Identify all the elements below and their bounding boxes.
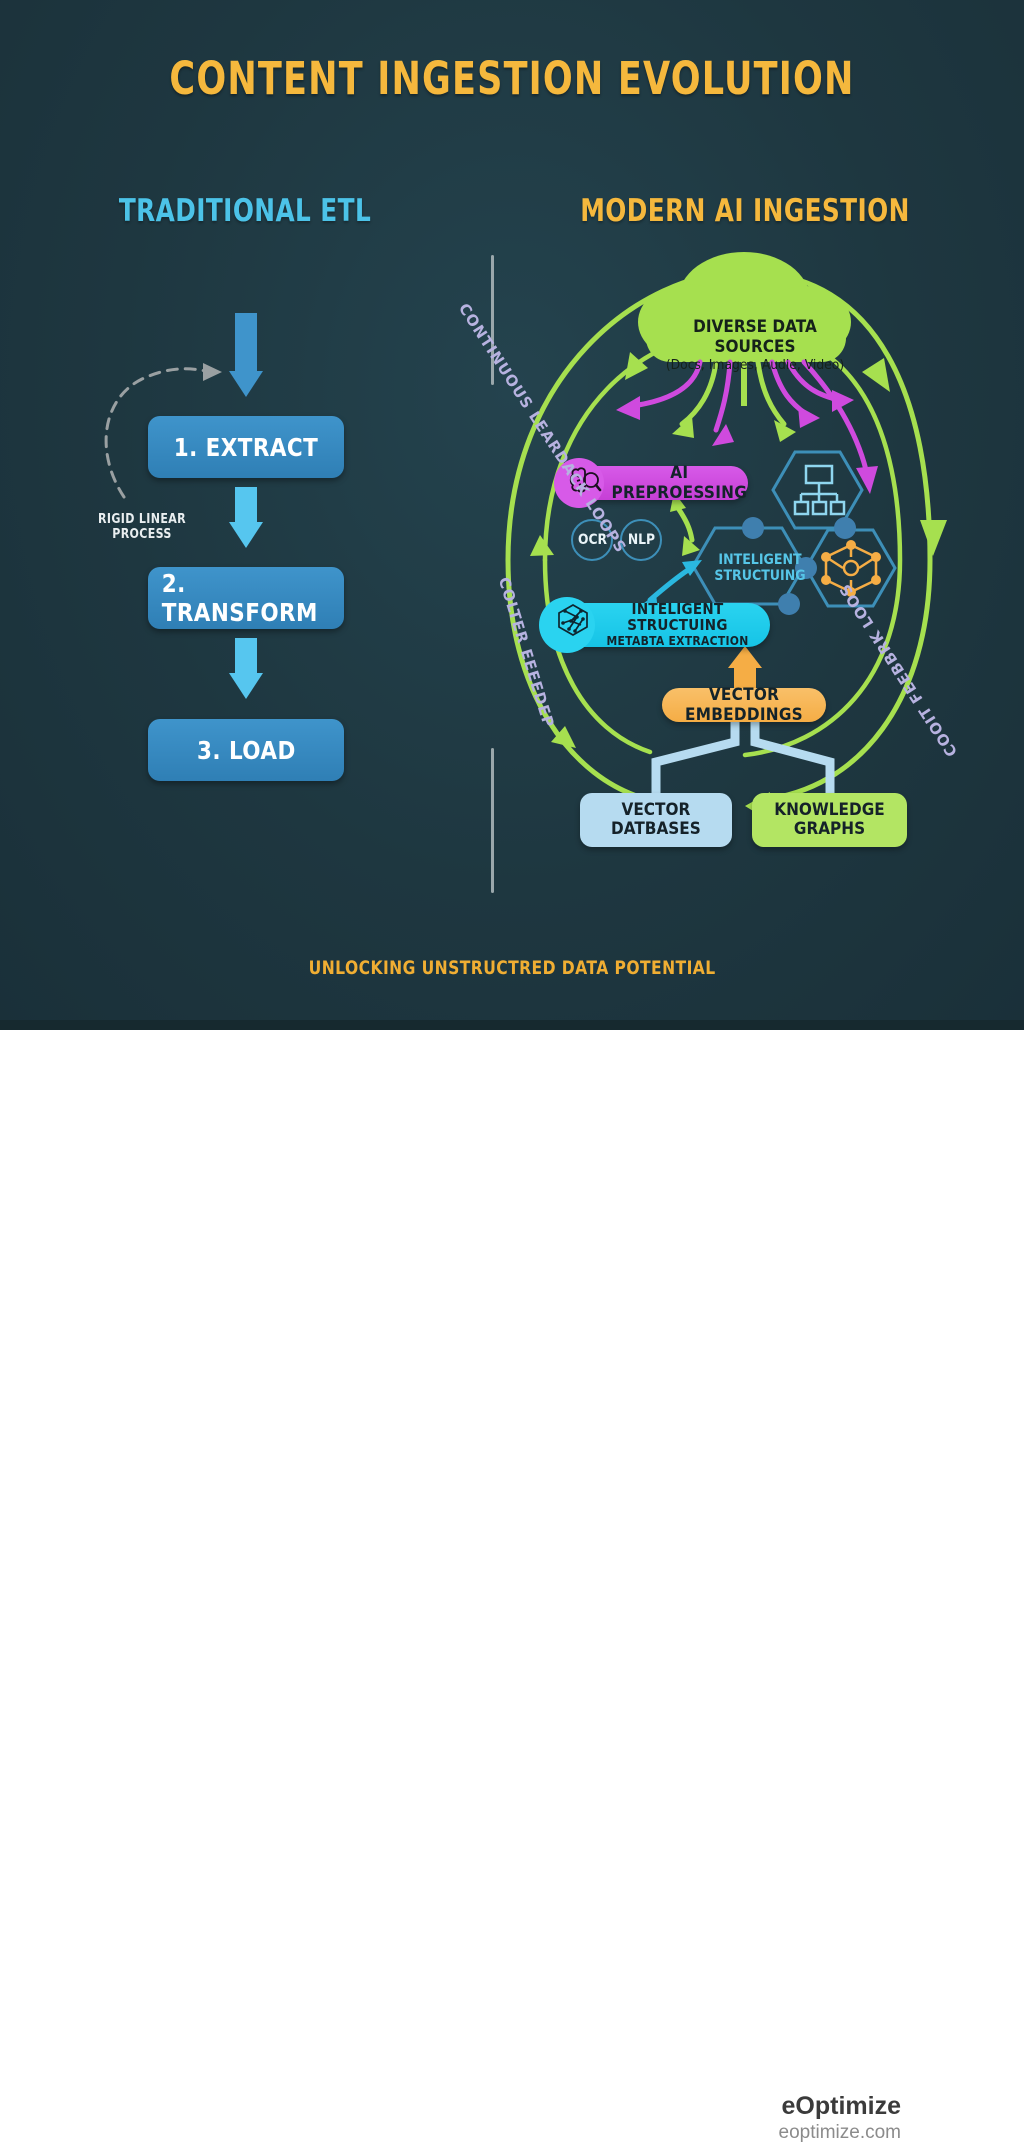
tagline: UNLOCKING UNSTRUCTRED DATA POTENTIAL <box>0 957 1024 979</box>
footer-bar: eOptimize eoptimize.com <box>0 1030 1024 1154</box>
infographic-canvas: CONTENT INGESTION EVOLUTION TRADITIONAL … <box>0 0 1024 1030</box>
infographic-root: CONTENT INGESTION EVOLUTION TRADITIONAL … <box>0 0 1024 1154</box>
intelligent-structuring-label: INTELIGENT STRUCTUING METABTA EXTRACTION <box>595 602 770 647</box>
leaf-connectors <box>656 722 830 793</box>
intelligent-structuring-node[interactable]: INTELIGENT STRUCTUING METABTA EXTRACTION <box>555 603 770 647</box>
ai-preprocessing-label: AI PREPROESSING <box>604 463 765 503</box>
hexagon-knowledge-graph-node[interactable] <box>806 530 895 606</box>
right-panel-graphics <box>0 0 1024 1030</box>
ocr-label: OCR <box>577 532 606 548</box>
nlp-chip[interactable]: NLP <box>620 519 662 561</box>
brain-magnifier-icon <box>554 458 604 508</box>
brand-url: eoptimize.com <box>779 2122 902 2144</box>
knowledge-graphs-label: KNOWLEDGE GRAPHS <box>760 801 900 838</box>
brand-name: eOptimize <box>782 2092 901 2121</box>
diverse-data-sources-cloud[interactable] <box>638 252 851 362</box>
ai-preprocessing-node[interactable]: AI PREPROESSING <box>568 466 748 500</box>
hexagon-hierarchy-node[interactable] <box>773 452 862 528</box>
ocr-chip[interactable]: OCR <box>571 519 613 561</box>
vector-embeddings-node[interactable]: VECTOR EMBEDDINGS <box>662 688 826 722</box>
nlp-label: NLP <box>627 532 654 548</box>
vector-embeddings-label: VECTOR EMBEDDINGS <box>662 685 826 725</box>
neural-network-icon <box>539 597 595 653</box>
vector-databases-node[interactable]: VECTOR DATBASES <box>580 793 732 847</box>
knowledge-graphs-node[interactable]: KNOWLEDGE GRAPHS <box>752 793 907 847</box>
hexagon-intelligent-structuring-node[interactable] <box>693 528 804 604</box>
vector-databases-label: VECTOR DATBASES <box>606 801 706 838</box>
